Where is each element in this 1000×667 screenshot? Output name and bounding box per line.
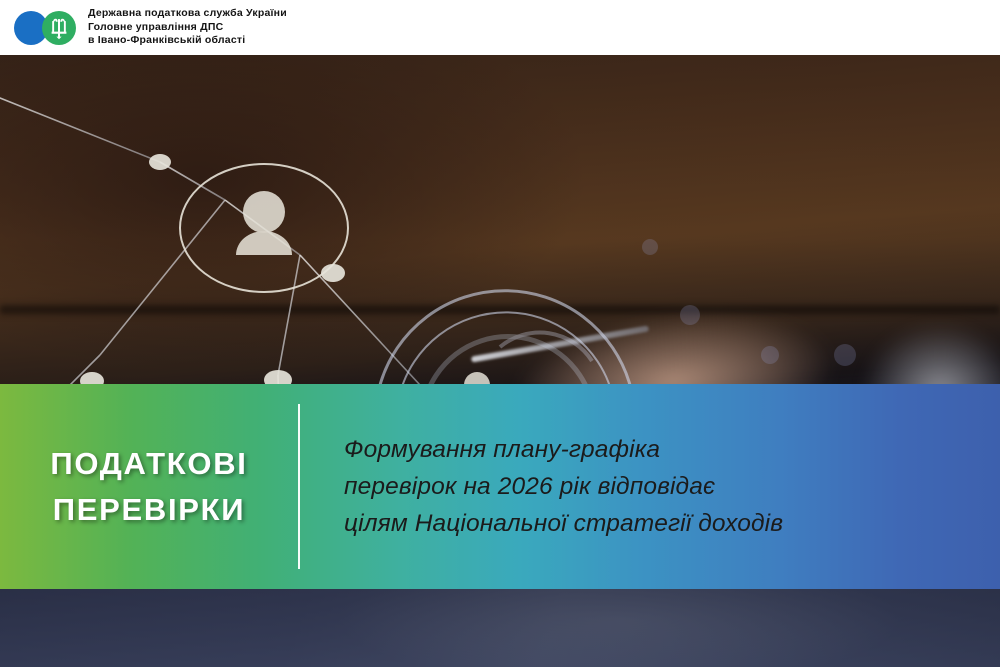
page-subtitle-line3: цілям Національної стратегії доходів (344, 505, 783, 542)
page-subtitle-line1: Формування плану-графіка (344, 431, 783, 468)
page-subtitle: Формування плану-графіка перевірок на 20… (344, 431, 783, 542)
dps-logo[interactable] (14, 11, 76, 45)
organization-name: Державна податкова служба України Головн… (88, 7, 287, 47)
org-line-3: в Івано-Франківській області (88, 34, 287, 47)
org-line-1: Державна податкова служба України (88, 7, 287, 20)
page-subtitle-line2: перевірок на 2026 рік відповідає (344, 468, 783, 505)
page-title-line1: ПОДАТКОВІ (50, 441, 247, 487)
org-line-2: Головне управління ДПС (88, 21, 287, 34)
page-title-line2: ПЕРЕВІРКИ (50, 487, 247, 533)
gradient-banner: ПОДАТКОВІ ПЕРЕВІРКИ Формування плану-гра… (0, 384, 1000, 589)
vertical-divider (298, 404, 300, 569)
banner-subtitle-area: Формування плану-графіка перевірок на 20… (300, 384, 1000, 589)
site-header: Державна податкова служба України Головн… (0, 0, 1000, 55)
page-title: ПОДАТКОВІ ПЕРЕВІРКИ (50, 441, 247, 533)
ukraine-trident-icon (42, 11, 76, 45)
banner-title-area: ПОДАТКОВІ ПЕРЕВІРКИ (0, 384, 298, 589)
slide-root: ПОДАТКОВІ ПЕРЕВІРКИ Формування плану-гра… (0, 0, 1000, 667)
bottom-photo-strip (0, 589, 1000, 667)
